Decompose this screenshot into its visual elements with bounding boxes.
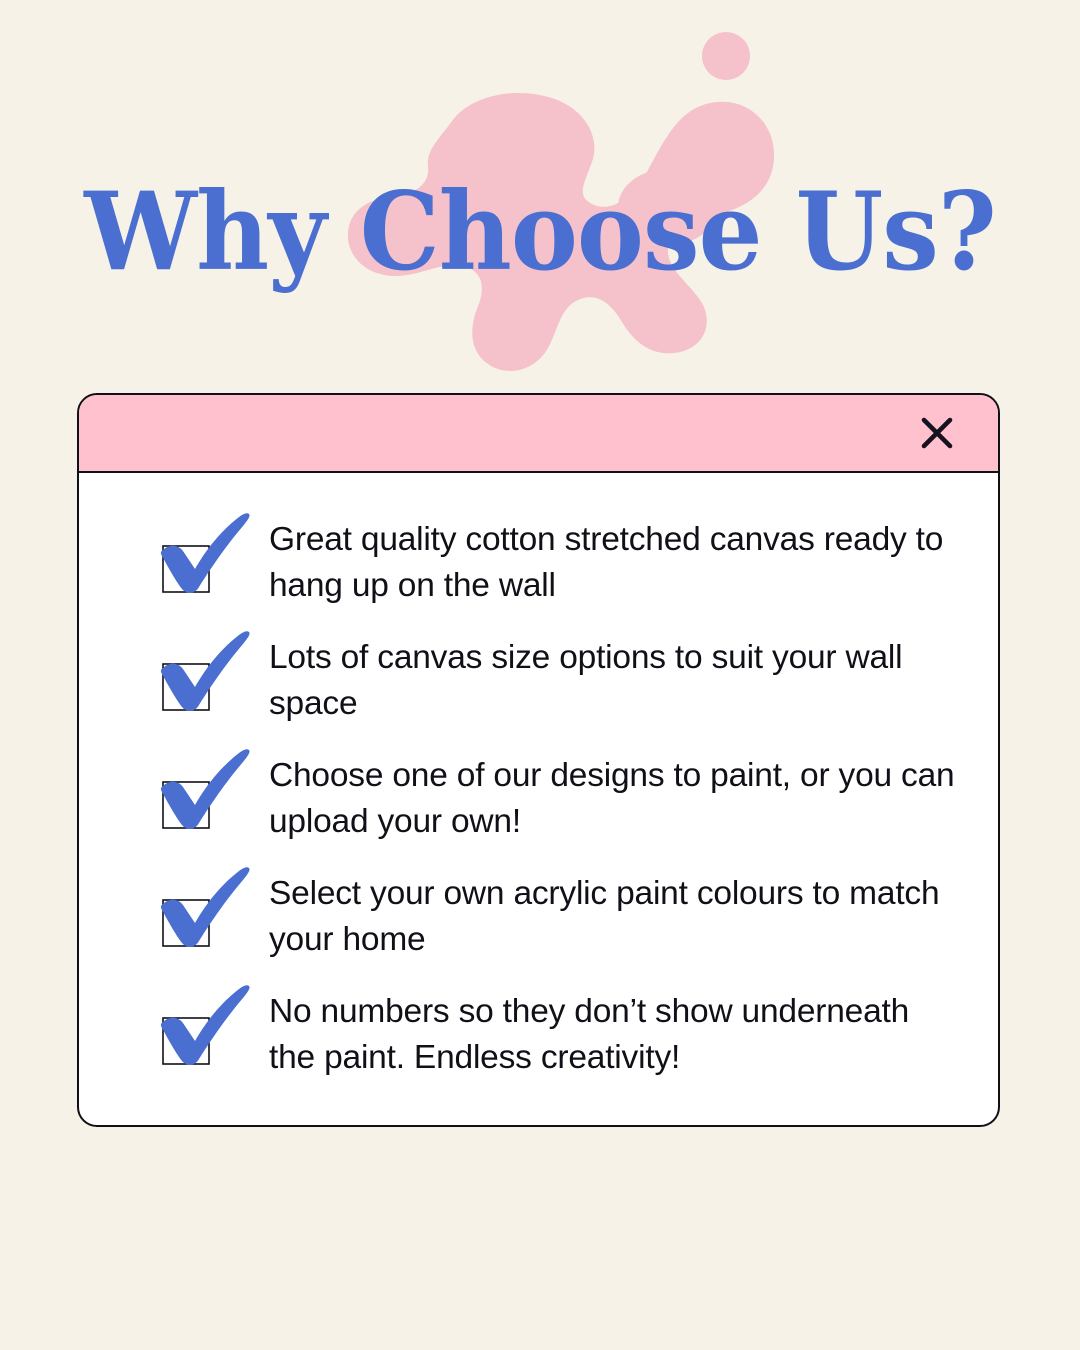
list-item: Choose one of our designs to paint, or y… [79, 731, 998, 849]
list-item: No numbers so they don’t show underneath… [79, 967, 998, 1085]
close-icon [920, 416, 954, 450]
list-item-label: Lots of canvas size options to suit your… [269, 613, 959, 727]
checkbox-checked-icon[interactable] [143, 731, 269, 849]
benefits-list: Great quality cotton stretched canvas re… [79, 473, 998, 1085]
checkbox-checked-icon[interactable] [143, 613, 269, 731]
card-header [79, 395, 998, 473]
checkmark-stroke [161, 631, 250, 711]
splatter-dot-small [702, 32, 750, 80]
checkbox-checked-icon[interactable] [143, 495, 269, 613]
checkbox-checked-icon[interactable] [143, 849, 269, 967]
list-item-label: Great quality cotton stretched canvas re… [269, 495, 959, 609]
checkmark-stroke [161, 513, 250, 593]
list-item-label: Choose one of our designs to paint, or y… [269, 731, 959, 845]
checkmark-stroke [161, 985, 250, 1065]
list-item-label: No numbers so they don’t show underneath… [269, 967, 959, 1081]
page-title: Why Choose Us? [0, 178, 1080, 286]
list-item: Lots of canvas size options to suit your… [79, 613, 998, 731]
checkmark-stroke [161, 867, 250, 947]
checkbox-checked-icon[interactable] [143, 967, 269, 1085]
list-item-label: Select your own acrylic paint colours to… [269, 849, 959, 963]
close-button[interactable] [914, 410, 960, 456]
checkmark-stroke [161, 749, 250, 829]
list-item: Great quality cotton stretched canvas re… [79, 495, 998, 613]
page-title-text: Why Choose Us? [84, 178, 996, 286]
list-item: Select your own acrylic paint colours to… [79, 849, 998, 967]
benefits-card: Great quality cotton stretched canvas re… [77, 393, 1000, 1127]
